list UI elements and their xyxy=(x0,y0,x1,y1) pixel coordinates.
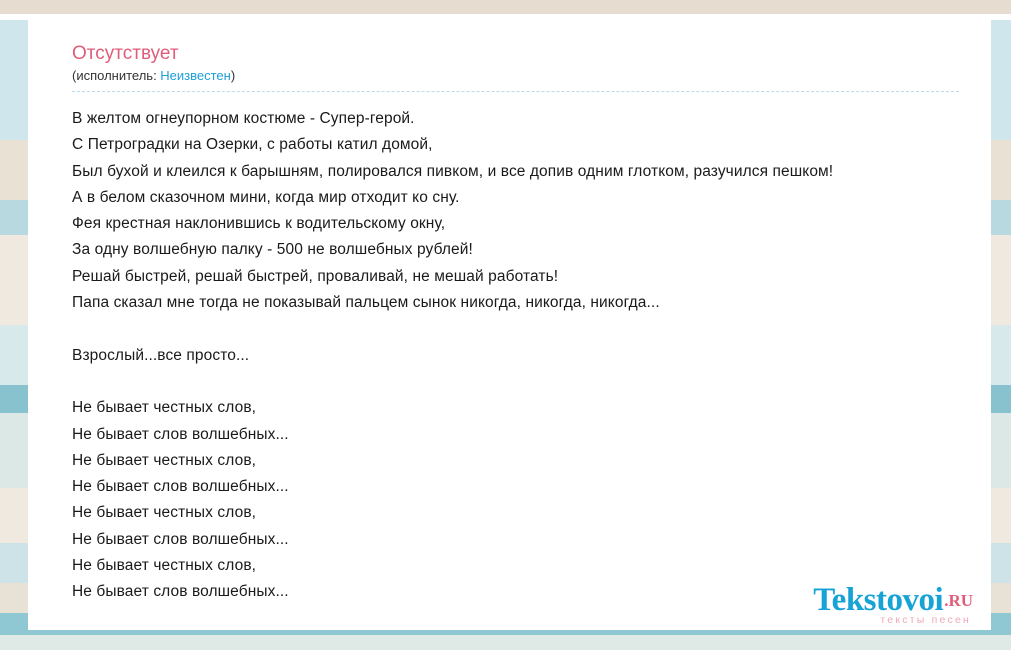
divider xyxy=(72,91,959,92)
artist-link[interactable]: Неизвестен xyxy=(160,68,231,83)
stripe-band xyxy=(0,635,1011,650)
lyrics-card: Отсутствует (исполнитель: Неизвестен) В … xyxy=(28,20,991,630)
artist-line: (исполнитель: Неизвестен) xyxy=(72,68,961,91)
stripe-band xyxy=(0,0,1011,14)
page-background: Отсутствует (исполнитель: Неизвестен) В … xyxy=(0,0,1011,650)
page-title: Отсутствует xyxy=(72,42,961,66)
site-logo[interactable]: Tekstovoi.RU тексты песен xyxy=(813,583,973,626)
logo-tld: .RU xyxy=(944,591,973,611)
artist-suffix-label: ) xyxy=(231,68,235,83)
lyrics-text: В желтом огнеупорном костюме - Супер-гер… xyxy=(72,106,961,606)
logo-name: Tekstovoi xyxy=(813,583,943,617)
artist-prefix-label: (исполнитель: xyxy=(72,68,160,83)
